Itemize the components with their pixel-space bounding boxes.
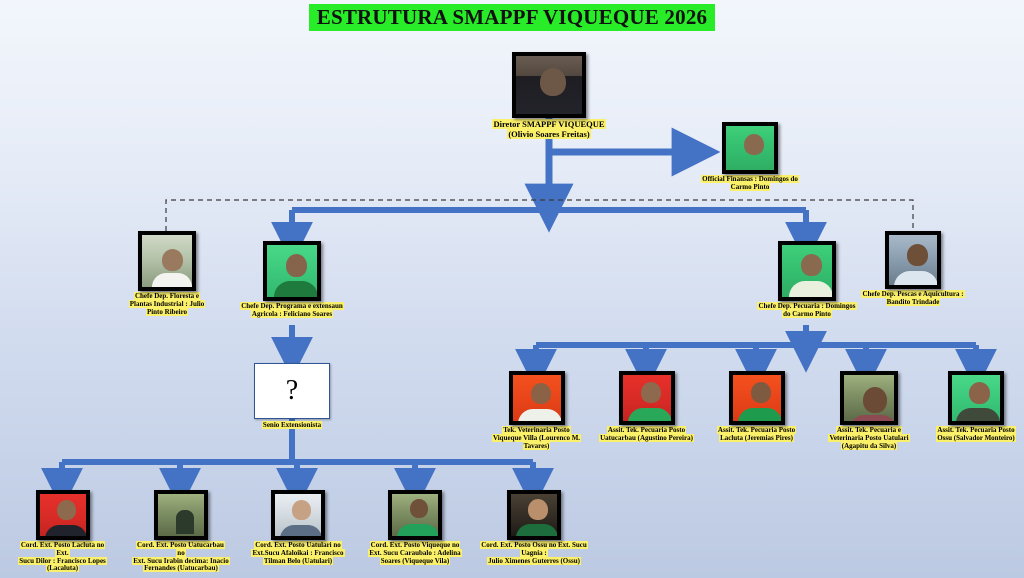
face-shape	[641, 382, 661, 403]
face-shape	[57, 500, 76, 520]
face-shape	[410, 499, 428, 518]
extension-0-line2: Sucu Dilor : Francisco Lopes	[18, 557, 107, 565]
face-shape	[751, 382, 771, 403]
pecuaria-0-caption: Tek. Veterinaria Posto Viqueque Villa (L…	[492, 427, 581, 450]
pecuaria-0-photo	[509, 371, 565, 425]
shirt-shape	[956, 408, 1000, 425]
director-line1: Diretor SMAPPF VIQUEQUE	[492, 119, 605, 129]
extension-2-line2: Ext.Sucu Afaloikai : Francisco	[251, 549, 344, 557]
extension-0-photo	[36, 490, 90, 540]
pecuaria-3-photo	[840, 371, 898, 425]
node-extension-0[interactable]: Cord. Ext. Posto Lacluta no Ext. Sucu Di…	[15, 490, 110, 573]
shirt-shape	[738, 408, 782, 425]
shirt-shape	[397, 524, 439, 540]
face-shape	[540, 68, 566, 96]
extension-3-line1: Cord. Ext. Posto Viqueque no	[370, 541, 461, 549]
pecuaria-1-photo	[619, 371, 675, 425]
senio-extensionista-caption: Senio Extensionista	[262, 422, 322, 430]
extension-1-line3: Fernandes (Uatucarbau)	[143, 564, 219, 572]
extension-4-line1: Cord. Ext. Posto Ossu no Ext. Sucu Uagni…	[480, 541, 588, 557]
pecuaria-2-caption: Assit. Tek. Pecuaria Posto Lacluta (Jere…	[717, 427, 796, 443]
dep-floresta-photo	[138, 231, 196, 291]
extension-0-line3: (Lacaluta)	[46, 564, 79, 572]
org-chart-canvas: ESTRUTURA SMAPPF VIQUEQUE 2026	[0, 0, 1024, 578]
extension-2-caption: Cord. Ext. Posto Uatulari no Ext.Sucu Af…	[251, 542, 344, 565]
dep-pescas-photo	[885, 231, 941, 289]
extension-4-photo	[507, 490, 561, 540]
pecuaria-2-line2: Lacluta (Jeremias Pires)	[719, 434, 794, 442]
senio-extensionista-line1: Senio Extensionista	[262, 421, 322, 429]
dep-pescas-line2: Bandito Trindade	[886, 298, 941, 306]
pecuaria-0-line3: Tavares)	[523, 442, 551, 450]
node-dep-pecuaria[interactable]: Chefe Dep. Pecuaria : Domingos do Carmo …	[748, 241, 866, 319]
node-finance-officer[interactable]: Official Finansas : Domingos do Carmo Pi…	[690, 122, 810, 192]
pecuaria-4-line2: Ossu (Salvador Monteiro)	[936, 434, 1016, 442]
finance-officer-caption: Official Finansas : Domingos do Carmo Pi…	[701, 176, 799, 192]
dep-programa-caption: Chefe Dep. Programa e extensaun Agricola…	[240, 303, 344, 319]
node-pecuaria-0[interactable]: Tek. Veterinaria Posto Viqueque Villa (L…	[489, 371, 584, 450]
pecuaria-3-line3: (Agapitu da Silva)	[841, 442, 897, 450]
face-shape	[969, 382, 990, 404]
finance-officer-line2: Carmo Pinto	[730, 183, 771, 191]
node-dep-pescas[interactable]: Chefe Dep. Pescas e Aquicultura : Bandit…	[855, 231, 971, 307]
extension-2-line1: Cord. Ext. Posto Uatulari no	[254, 541, 342, 549]
node-director[interactable]: Diretor SMAPPF VIQUEQUE (Olivio Soares F…	[472, 52, 626, 139]
dep-floresta-caption: Chefe Dep. Floresta e Plantas Industrial…	[129, 293, 206, 316]
extension-0-line1: Cord. Ext. Posto Lacluta no Ext.	[20, 541, 105, 557]
shirt-shape	[152, 273, 192, 291]
shirt-shape	[789, 281, 833, 301]
node-pecuaria-1[interactable]: Assit. Tek. Pecuaria Posto Uatucarbau (A…	[599, 371, 694, 443]
face-shape	[292, 500, 311, 520]
pecuaria-1-line1: Assit. Tek. Pecuaria Posto	[607, 426, 686, 434]
director-caption: Diretor SMAPPF VIQUEQUE (Olivio Soares F…	[492, 120, 605, 139]
face-shape	[531, 383, 551, 404]
extension-1-line2: Ext. Sucu Irabin decima: Inacio	[132, 557, 229, 565]
shirt-shape	[516, 524, 558, 540]
node-extension-1[interactable]: Cord. Ext. Posto Uatucarbau no Ext. Sucu…	[132, 490, 230, 573]
face-shape	[162, 249, 183, 271]
shirt-shape	[894, 271, 938, 289]
pecuaria-2-line1: Assit. Tek. Pecuaria Posto	[717, 426, 796, 434]
pecuaria-3-line2: Veterinaria Posto Uatulari	[828, 434, 909, 442]
extension-0-caption: Cord. Ext. Posto Lacluta no Ext. Sucu Di…	[15, 542, 110, 573]
pecuaria-0-line1: Tek. Veterinaria Posto	[502, 426, 570, 434]
extension-4-line2: Julio Ximenes Guterres (Ossu)	[487, 557, 581, 565]
question-mark-icon: ?	[286, 375, 298, 407]
pecuaria-4-caption: Assit. Tek. Pecuaria Posto Ossu (Salvado…	[936, 427, 1016, 443]
dep-pescas-caption: Chefe Dep. Pescas e Aquicultura : Bandit…	[861, 291, 964, 307]
node-extension-3[interactable]: Cord. Ext. Posto Viqueque no Ext. Sucu C…	[367, 490, 463, 565]
shirt-shape	[280, 525, 322, 540]
pecuaria-1-line2: Uatucarbau (Agustino Pereira)	[599, 434, 694, 442]
face-shape	[528, 499, 548, 520]
shirt-shape	[850, 415, 896, 425]
pecuaria-4-line1: Assit. Tek. Pecuaria Posto	[936, 426, 1015, 434]
dep-floresta-line1: Chefe Dep. Floresta e	[134, 292, 200, 300]
director-photo	[512, 52, 586, 118]
dep-pescas-line1: Chefe Dep. Pescas e Aquicultura :	[861, 290, 964, 298]
extension-1-photo	[154, 490, 208, 540]
face-shape	[286, 254, 307, 277]
extension-2-photo	[271, 490, 325, 540]
extension-3-line3: Soares (Viqueque Vila)	[380, 557, 450, 565]
senio-extensionista-box[interactable]: ?	[254, 363, 330, 419]
extension-1-caption: Cord. Ext. Posto Uatucarbau no Ext. Sucu…	[132, 542, 230, 573]
dep-programa-line2: Agricola : Feliciano Soares	[251, 310, 333, 318]
extension-3-caption: Cord. Ext. Posto Viqueque no Ext. Sucu C…	[368, 542, 461, 565]
node-extension-4[interactable]: Cord. Ext. Posto Ossu no Ext. Sucu Uagni…	[473, 490, 595, 565]
dep-pecuaria-caption: Chefe Dep. Pecuaria : Domingos do Carmo …	[757, 303, 856, 319]
pecuaria-3-line1: Assit. Tek. Pecuaria e	[836, 426, 902, 434]
dep-pecuaria-photo	[778, 241, 836, 301]
node-pecuaria-2[interactable]: Assit. Tek. Pecuaria Posto Lacluta (Jere…	[709, 371, 804, 443]
director-line2: (Olivio Soares Freitas)	[507, 129, 590, 139]
face-shape	[801, 254, 822, 276]
node-senio-extensionista[interactable]: ? Senio Extensionista	[255, 363, 329, 430]
shirt-shape	[518, 409, 562, 425]
shirt-shape	[628, 408, 672, 425]
page-title: ESTRUTURA SMAPPF VIQUEQUE 2026	[0, 4, 1024, 31]
dep-programa-photo	[263, 241, 321, 301]
node-pecuaria-3[interactable]: Assit. Tek. Pecuaria e Veterinaria Posto…	[819, 371, 919, 450]
dep-floresta-line3: Pinto Ribeiro	[146, 308, 188, 316]
node-extension-2[interactable]: Cord. Ext. Posto Uatulari no Ext.Sucu Af…	[249, 490, 347, 565]
dep-pecuaria-line1: Chefe Dep. Pecuaria : Domingos	[757, 302, 856, 310]
extension-3-line2: Ext. Sucu Caraubalo : Adelina	[368, 549, 461, 557]
extension-3-photo	[388, 490, 442, 540]
finance-officer-photo	[722, 122, 778, 174]
node-dep-floresta[interactable]: Chefe Dep. Floresta e Plantas Industrial…	[108, 231, 226, 316]
pecuaria-2-photo	[729, 371, 785, 425]
shirt-shape	[45, 525, 87, 540]
extension-2-line3: Tilman Belo (Uatulari)	[263, 557, 333, 565]
pecuaria-0-line2: Viqueque Villa (Lourenco M.	[492, 434, 581, 442]
extension-4-caption: Cord. Ext. Posto Ossu no Ext. Sucu Uagni…	[473, 542, 595, 565]
dep-pecuaria-line2: do Carmo Pinto	[782, 310, 832, 318]
dep-floresta-line2: Plantas Industrial : Julio	[129, 300, 206, 308]
face-shape	[744, 134, 764, 155]
pecuaria-1-caption: Assit. Tek. Pecuaria Posto Uatucarbau (A…	[599, 427, 694, 443]
shirt-shape	[176, 510, 194, 534]
node-dep-programa[interactable]: Chefe Dep. Programa e extensaun Agricola…	[232, 241, 352, 319]
pecuaria-4-photo	[948, 371, 1004, 425]
page-title-text: ESTRUTURA SMAPPF VIQUEQUE 2026	[309, 4, 715, 31]
face-shape	[863, 387, 887, 413]
face-shape	[907, 244, 928, 266]
node-pecuaria-4[interactable]: Assit. Tek. Pecuaria Posto Ossu (Salvado…	[930, 371, 1022, 443]
shirt-shape	[274, 281, 318, 301]
pecuaria-3-caption: Assit. Tek. Pecuaria e Veterinaria Posto…	[828, 427, 909, 450]
finance-officer-line1: Official Finansas : Domingos do	[701, 175, 799, 183]
extension-1-line1: Cord. Ext. Posto Uatucarbau no	[136, 541, 225, 557]
dep-programa-line1: Chefe Dep. Programa e extensaun	[240, 302, 344, 310]
